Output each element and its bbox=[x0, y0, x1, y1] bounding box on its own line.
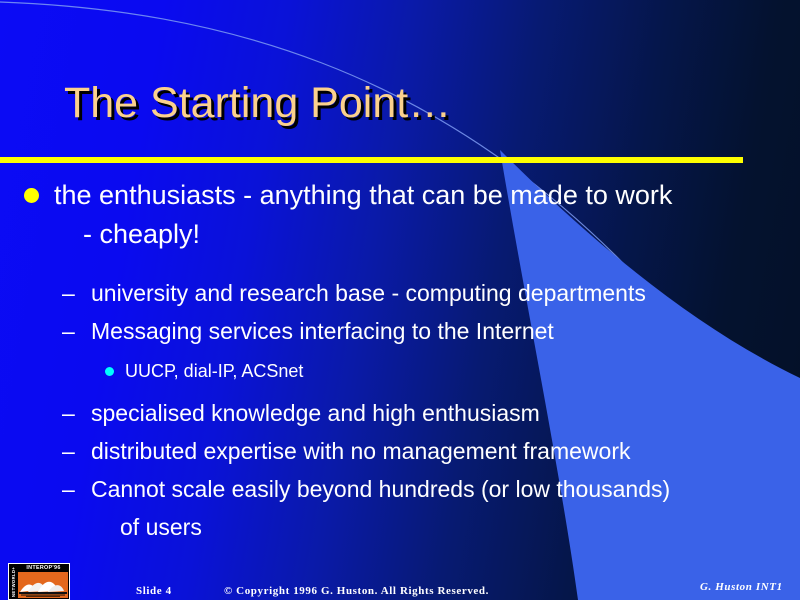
en-dash-marker: – bbox=[62, 274, 75, 312]
bullet-level2-distributed-label: distributed expertise with no management… bbox=[91, 438, 630, 464]
bullet-level2-specialised-label: specialised knowledge and high enthusias… bbox=[91, 400, 540, 426]
footer-slide-number: Slide 4 bbox=[136, 585, 172, 597]
bullet-level2-university: – university and research base - computi… bbox=[0, 274, 800, 312]
footer-author: G. Huston INT1 bbox=[700, 581, 783, 593]
bullet-level1-line2: - cheaply! bbox=[54, 215, 780, 254]
bullet-level3-protocols: UUCP, dial-IP, ACSnet bbox=[0, 354, 800, 388]
slide-title: The Starting Point… bbox=[64, 78, 451, 128]
logo-side-text: NETWORLD+ bbox=[9, 564, 18, 599]
logo-top-text: INTEROP'96 bbox=[18, 564, 69, 572]
bullet-level1: the enthusiasts - anything that can be m… bbox=[0, 176, 800, 254]
bullet-level2-scale-line2: of users bbox=[91, 508, 786, 546]
bullet-level2-scale-line1: Cannot scale easily beyond hundreds (or … bbox=[91, 476, 670, 502]
round-bullet-cyan-icon bbox=[105, 367, 114, 376]
slide-body: the enthusiasts - anything that can be m… bbox=[0, 176, 800, 546]
en-dash-marker: – bbox=[62, 432, 75, 470]
en-dash-marker: – bbox=[62, 312, 75, 350]
bullet-level2-specialised: – specialised knowledge and high enthusi… bbox=[0, 394, 800, 432]
presentation-slide: The Starting Point… the enthusiasts - an… bbox=[0, 0, 800, 600]
bullet-level2-university-label: university and research base - computing… bbox=[91, 280, 646, 306]
bullet-level2-scale: – Cannot scale easily beyond hundreds (o… bbox=[0, 470, 800, 546]
bullet-level3-protocols-label: UUCP, dial-IP, ACSnet bbox=[125, 361, 303, 381]
en-dash-marker: – bbox=[62, 394, 75, 432]
spacer bbox=[0, 254, 800, 274]
bullet-level2-messaging-label: Messaging services interfacing to the In… bbox=[91, 318, 554, 344]
bullet-level2-messaging: – Messaging services interfacing to the … bbox=[0, 312, 800, 350]
title-underline-rule bbox=[0, 157, 743, 163]
en-dash-marker: – bbox=[62, 470, 75, 508]
logo-frame: NETWORLD+ INTEROP'96 bbox=[9, 564, 69, 599]
bullet-level1-line1: the enthusiasts - anything that can be m… bbox=[54, 180, 672, 210]
networld-interop-logo: NETWORLD+ INTEROP'96 bbox=[8, 563, 70, 600]
bullet-level2-distributed: – distributed expertise with no manageme… bbox=[0, 432, 800, 470]
round-bullet-yellow-icon bbox=[24, 188, 39, 203]
footer-copyright: © Copyright 1996 G. Huston. All Rights R… bbox=[224, 585, 489, 597]
sydney-opera-house-icon bbox=[18, 572, 68, 598]
